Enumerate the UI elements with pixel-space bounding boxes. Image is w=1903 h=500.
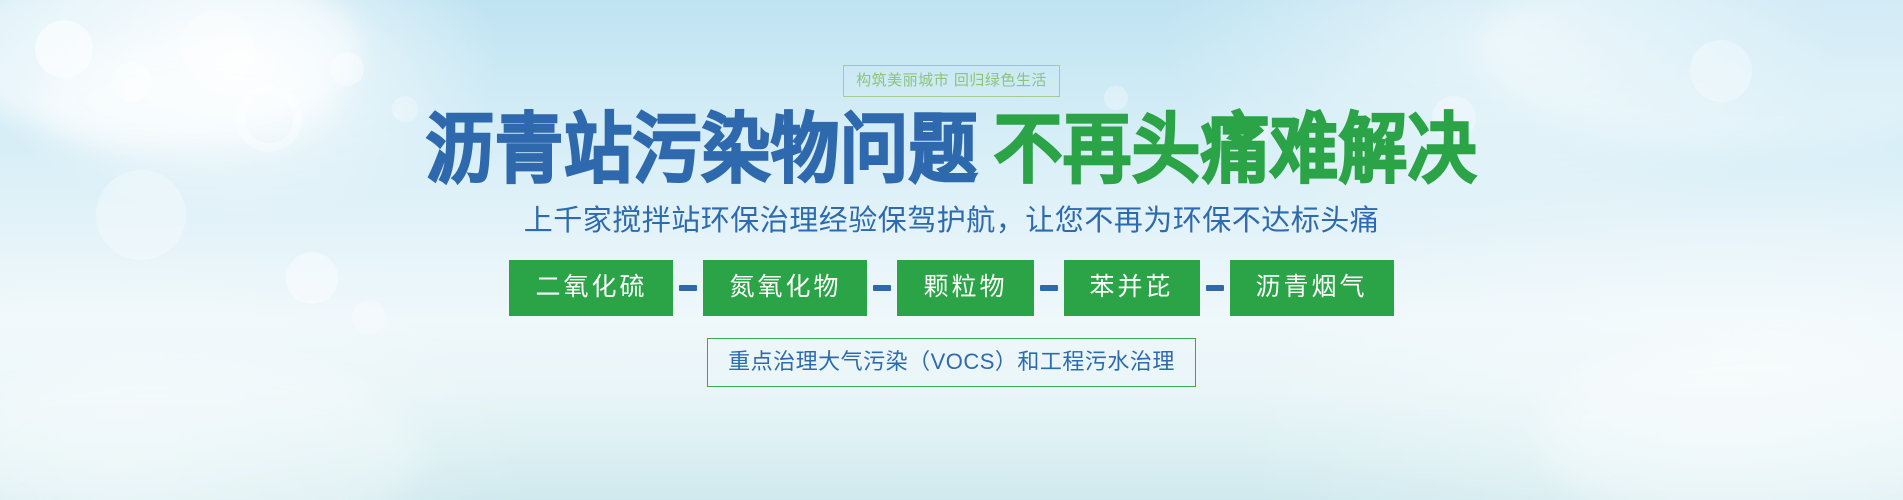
subtitle-text: 上千家搅拌站环保治理经验保驾护航，让您不再为环保不达标头痛 <box>524 206 1380 238</box>
hero-banner: 构筑美丽城市 回归绿色生活 沥青站污染物问题不再头痛难解决 上千家搅拌站环保治理… <box>0 0 1903 500</box>
banner-content: 构筑美丽城市 回归绿色生活 沥青站污染物问题不再头痛难解决 上千家搅拌站环保治理… <box>0 0 1903 500</box>
pill-separator-dash-icon <box>673 263 703 313</box>
headline-green-text: 不再头痛难解决 <box>994 106 1477 194</box>
pollutant-tag-list: 二氧化硫 氮氧化物 颗粒物 苯并芘 沥青烟气 <box>509 260 1393 316</box>
pill-tag-4[interactable]: 苯并芘 <box>1064 260 1200 316</box>
pill-tag-1[interactable]: 二氧化硫 <box>509 260 673 316</box>
pill-tag-5[interactable]: 沥青烟气 <box>1230 260 1394 316</box>
pill-separator-dash-icon <box>1200 263 1230 313</box>
pill-separator-dash-icon <box>1034 263 1064 313</box>
page-title: 沥青站污染物问题不再头痛难解决 <box>426 113 1477 189</box>
headline-blue-text: 沥青站污染物问题 <box>426 106 978 194</box>
pill-tag-3[interactable]: 颗粒物 <box>897 260 1033 316</box>
tagline-badge: 构筑美丽城市 回归绿色生活 <box>843 65 1060 97</box>
footer-note-box: 重点治理大气污染（VOCS）和工程污水治理 <box>707 338 1196 387</box>
pill-tag-2[interactable]: 氮氧化物 <box>703 260 867 316</box>
pill-separator-dash-icon <box>867 263 897 313</box>
